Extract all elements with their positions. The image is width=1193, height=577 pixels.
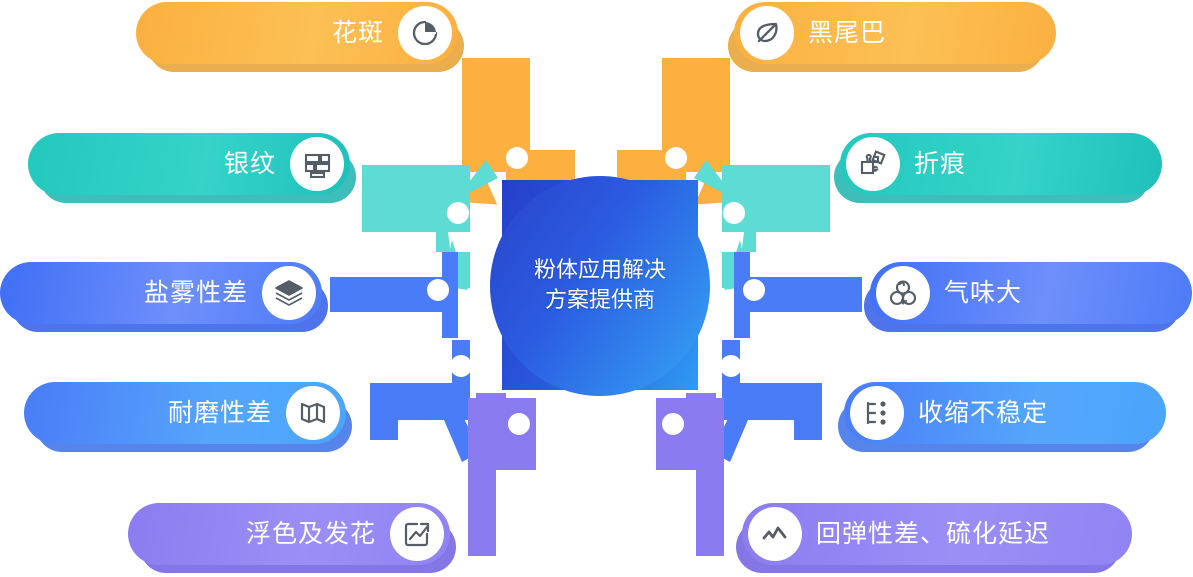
- connector-shou-suo: [712, 340, 822, 462]
- trend-box-icon: [390, 507, 444, 561]
- node-label: 耐磨性差: [168, 401, 272, 426]
- node-label: 收缩不稳定: [918, 401, 1048, 426]
- center-node[interactable]: 粉体应用解决 方案提供商: [502, 180, 698, 390]
- center-label: 粉体应用解决 方案提供商: [502, 180, 698, 390]
- node-yan-wu-xing-cha[interactable]: 盐雾性差: [0, 262, 322, 324]
- node-nai-mo-xing-cha[interactable]: 耐磨性差: [24, 382, 346, 444]
- node-fu-se-ji-fa-hua[interactable]: 浮色及发花: [128, 503, 450, 565]
- node-shou-suo-bu-wen-ding[interactable]: 收缩不稳定: [844, 382, 1166, 444]
- node-label: 黑尾巴: [808, 21, 886, 46]
- node-label: 回弹性差、硫化延迟: [816, 522, 1050, 547]
- connector-hui-tan: [656, 393, 724, 556]
- recycle-icon: [876, 266, 930, 320]
- leaf-icon: [740, 6, 794, 60]
- puzzle-icon: [846, 137, 900, 191]
- connector-qi-wei-da: [734, 252, 862, 338]
- layers-icon: [262, 266, 316, 320]
- connector-fu-se: [468, 393, 536, 556]
- connector-zhe-hen: [694, 160, 830, 290]
- node-qi-wei-da[interactable]: 气味大: [870, 262, 1192, 324]
- node-label: 浮色及发花: [246, 522, 376, 547]
- node-label: 气味大: [944, 281, 1022, 306]
- node-label: 折痕: [914, 152, 966, 177]
- center-label-line1: 粉体应用解决: [534, 255, 666, 285]
- connector-yan-wu: [330, 252, 458, 338]
- node-label: 盐雾性差: [144, 281, 248, 306]
- connector-yin-wen: [362, 160, 498, 290]
- diagram-canvas: 粉体应用解决 方案提供商 花斑: [0, 0, 1193, 577]
- node-label: 银纹: [224, 152, 276, 177]
- sitemap-icon: [850, 386, 904, 440]
- node-zhe-hen[interactable]: 折痕: [840, 133, 1162, 195]
- brick-wall-icon: [290, 137, 344, 191]
- map-book-icon: [286, 386, 340, 440]
- node-hei-wei-ba[interactable]: 黑尾巴: [734, 2, 1056, 64]
- pie-chart-icon: [398, 6, 452, 60]
- connector-nai-mo: [370, 340, 480, 462]
- node-label: 花斑: [332, 21, 384, 46]
- line-chart-icon: [748, 507, 802, 561]
- node-hui-tan-xing-cha[interactable]: 回弹性差、硫化延迟: [742, 503, 1132, 565]
- center-label-line2: 方案提供商: [545, 285, 655, 315]
- node-yin-wen[interactable]: 银纹: [28, 133, 350, 195]
- node-hua-ban[interactable]: 花斑: [136, 2, 458, 64]
